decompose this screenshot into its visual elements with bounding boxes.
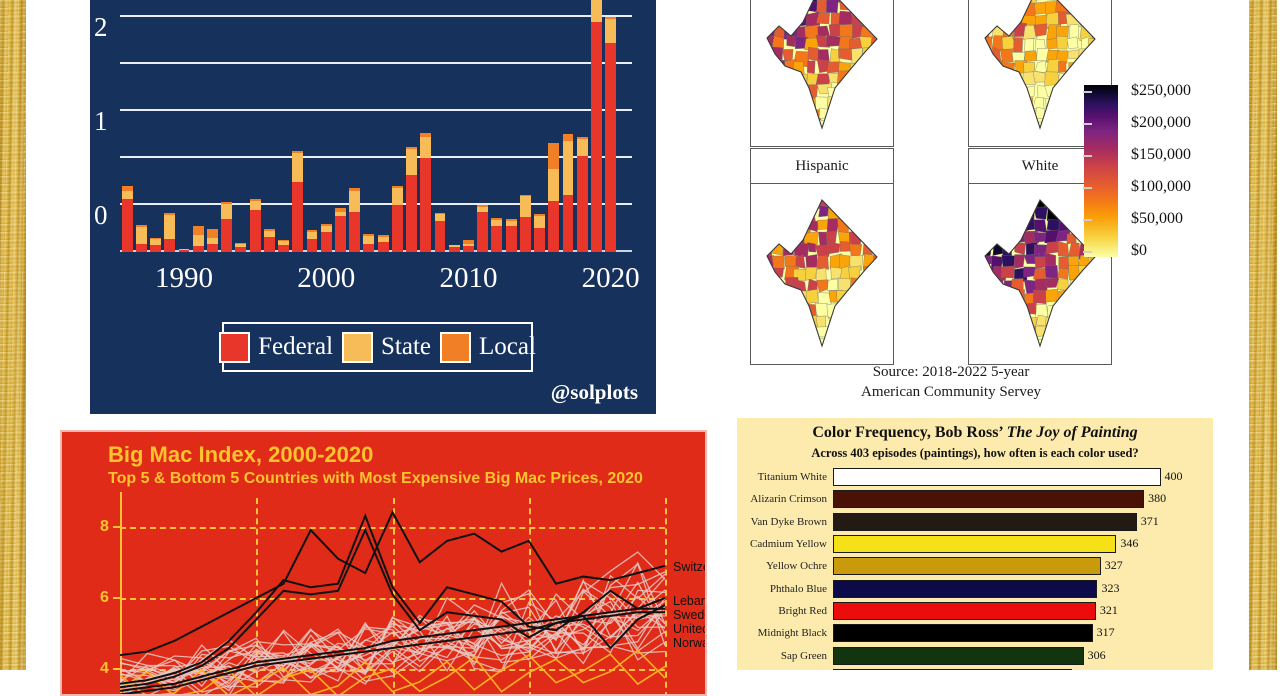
bar-segment-federal xyxy=(463,246,474,252)
bar-chart-bar xyxy=(122,186,133,252)
bob-ross-row: Phthalo Blue323 xyxy=(737,577,1213,599)
colorbar-gradient xyxy=(1084,85,1118,257)
bob-ross-color-label: Sap Green xyxy=(737,650,833,662)
bar-segment-federal xyxy=(278,245,289,252)
bar-segment-federal xyxy=(250,210,261,252)
bob-ross-value-label: 400 xyxy=(1165,469,1183,484)
bar-segment-federal xyxy=(292,182,303,252)
bar-segment-federal xyxy=(605,43,616,252)
bar-chart-gridline xyxy=(120,62,632,64)
bar-chart-bar xyxy=(179,249,190,252)
bob-ross-bar xyxy=(833,557,1101,575)
poster-page: 3210 1990200020102020 FederalStateLocal … xyxy=(0,0,1280,670)
bar-chart-legend: FederalStateLocal xyxy=(222,322,533,372)
dc-choropleth-map xyxy=(761,194,883,354)
bar-segment-federal xyxy=(378,242,389,252)
bar-segment-federal xyxy=(406,175,417,252)
bar-chart-bar xyxy=(264,229,275,252)
bar-segment-federal xyxy=(363,244,374,252)
bar-chart-bar xyxy=(506,219,517,252)
bob-ross-color-label: Bright Red xyxy=(737,605,833,617)
bar-chart-bar xyxy=(363,234,374,252)
bar-chart-bar xyxy=(563,134,574,252)
bar-segment-state xyxy=(363,236,374,244)
big-mac-index-panel: Big Mac Index, 2000-2020 Top 5 & Bottom … xyxy=(60,430,707,696)
bob-ross-bar xyxy=(833,647,1084,665)
bar-segment-federal xyxy=(321,232,332,252)
bob-ross-bar xyxy=(833,490,1144,508)
bob-ross-color-label: Midnight Black xyxy=(737,627,833,639)
bar-segment-federal xyxy=(477,212,488,252)
bob-ross-bar xyxy=(833,580,1097,598)
bar-segment-federal xyxy=(534,228,545,252)
bob-ross-bar-track: 371 xyxy=(833,513,1213,531)
bob-ross-bar-track: 327 xyxy=(833,557,1213,575)
bar-chart-bar xyxy=(349,188,360,252)
bar-chart-bar xyxy=(577,137,588,252)
bob-ross-value-label: 327 xyxy=(1105,558,1123,573)
bar-segment-state xyxy=(221,204,232,219)
bar-chart-bar xyxy=(435,212,446,252)
bar-chart-bar xyxy=(463,240,474,252)
bob-ross-bar-track: 317 xyxy=(833,624,1213,642)
colorbar-label: $50,000 xyxy=(1131,210,1183,228)
bob-ross-bar xyxy=(833,602,1096,620)
bar-segment-federal xyxy=(548,201,559,252)
bar-chart-y-tick: 2 xyxy=(94,14,108,41)
bob-ross-bar xyxy=(833,468,1161,486)
bar-segment-state xyxy=(136,227,147,245)
bar-segment-state xyxy=(605,19,616,43)
bar-segment-federal xyxy=(335,216,346,252)
bar-segment-state xyxy=(520,196,531,217)
bob-ross-value-label: 317 xyxy=(1097,625,1115,640)
bob-ross-value-label: 380 xyxy=(1148,491,1166,506)
big-mac-country-label-sweden: Sweden xyxy=(673,608,707,622)
bar-segment-federal xyxy=(179,250,190,252)
bob-ross-value-label: 323 xyxy=(1101,581,1119,596)
bar-segment-state xyxy=(420,137,431,158)
bar-chart-bar xyxy=(207,228,218,252)
bar-segment-state xyxy=(349,191,360,213)
bar-chart-bar xyxy=(221,202,232,252)
colorbar-label: $250,000 xyxy=(1131,82,1191,100)
bar-segment-federal xyxy=(164,239,175,252)
map-cell-hispanic: Hispanic xyxy=(750,148,894,365)
bar-segment-federal xyxy=(563,195,574,252)
bar-chart-bar xyxy=(449,244,460,252)
bar-segment-federal xyxy=(449,247,460,252)
bar-segment-state xyxy=(563,141,574,195)
legend-swatch xyxy=(219,332,250,363)
bob-ross-title-italic: The Joy of Painting xyxy=(1007,424,1138,441)
bar-chart-bar xyxy=(491,218,502,252)
bar-segment-federal xyxy=(491,226,502,252)
bar-segment-federal xyxy=(392,205,403,252)
legend-item-state[interactable]: State xyxy=(342,332,431,363)
bar-segment-state xyxy=(591,0,602,22)
legend-swatch xyxy=(440,332,471,363)
bar-chart-bar xyxy=(235,243,246,252)
bar-segment-federal xyxy=(136,244,147,252)
big-mac-y-tick: 8 xyxy=(100,518,109,536)
bar-segment-state xyxy=(193,235,204,246)
colorbar-tick xyxy=(1083,91,1092,93)
bar-segment-state xyxy=(548,169,559,201)
federal-spending-bar-chart-panel: 3210 1990200020102020 FederalStateLocal … xyxy=(90,0,656,414)
bar-chart-x-tick: 1990 xyxy=(155,262,213,295)
bar-segment-state xyxy=(307,232,318,239)
bob-ross-color-frequency-panel: Color Frequency, Bob Ross’ The Joy of Pa… xyxy=(737,418,1213,670)
bar-segment-local xyxy=(207,229,218,238)
bar-segment-federal xyxy=(349,212,360,252)
bar-chart-bar xyxy=(591,0,602,252)
bar-segment-state xyxy=(321,226,332,233)
bar-chart-bar xyxy=(136,225,147,252)
bar-chart-x-tick: 2000 xyxy=(297,262,355,295)
big-mac-gridline-v xyxy=(665,498,667,696)
bar-segment-state xyxy=(534,216,545,227)
colorbar-tick xyxy=(1083,251,1092,253)
bob-ross-color-label: Cadmium Yellow xyxy=(737,538,833,550)
map-cell-untitled-0 xyxy=(750,0,894,147)
bob-ross-bar xyxy=(833,624,1093,642)
colorbar-tick xyxy=(1083,155,1092,157)
big-mac-y-tick: 6 xyxy=(100,589,109,607)
map-source-note: Source: 2018-2022 5-yearAmerican Communi… xyxy=(736,362,1166,403)
bob-ross-color-label: Phthalo Blue xyxy=(737,583,833,595)
legend-label: Federal xyxy=(258,333,333,361)
bar-segment-state xyxy=(207,238,218,245)
dc-choropleth-map xyxy=(761,0,883,136)
bar-chart-bar xyxy=(307,230,318,252)
bar-chart-bar xyxy=(420,132,431,252)
big-mac-subtitle: Top 5 & Bottom 5 Countries with Most Exp… xyxy=(108,470,643,488)
bar-segment-local xyxy=(193,226,204,235)
map-cell-title: Hispanic xyxy=(751,149,893,184)
bar-chart-bar xyxy=(406,147,417,252)
map-source-line: Source: 2018-2022 5-year xyxy=(736,362,1166,382)
bar-segment-federal xyxy=(435,221,446,252)
big-mac-country-label-lebanon: Lebanon xyxy=(673,594,707,608)
bob-ross-row: Midnight Black317 xyxy=(737,622,1213,644)
map-cell-body xyxy=(751,0,893,146)
bob-ross-value-label: 371 xyxy=(1141,514,1159,529)
colorbar-tick-labels: $250,000$200,000$150,000$100,000$50,000$… xyxy=(1131,85,1241,257)
legend-item-local[interactable]: Local xyxy=(440,332,536,363)
bob-ross-row: Cadmium Yellow346 xyxy=(737,533,1213,555)
map-colorbar: $250,000$200,000$150,000$100,000$50,000$… xyxy=(1084,85,1241,257)
bar-chart-bar xyxy=(477,205,488,252)
bar-chart-bar xyxy=(150,238,161,252)
bar-chart-bar xyxy=(321,224,332,252)
bar-segment-federal xyxy=(307,239,318,252)
bob-ross-bar-track: 346 xyxy=(833,535,1213,553)
map-source-line: American Community Servey xyxy=(736,382,1166,402)
bar-segment-federal xyxy=(221,219,232,252)
bar-segment-state xyxy=(150,239,161,246)
bob-ross-row: Titanium White400 xyxy=(737,466,1213,488)
bob-ross-color-label: Alizarin Crimson xyxy=(737,493,833,505)
bob-ross-row: Van Dyke Brown371 xyxy=(737,511,1213,533)
bar-segment-state xyxy=(577,139,588,156)
legend-swatch xyxy=(342,332,373,363)
bar-chart-bar xyxy=(278,240,289,252)
bob-ross-color-label: Titanium White xyxy=(737,471,833,483)
bar-chart-gridline xyxy=(120,15,632,17)
bar-segment-federal xyxy=(193,246,204,252)
bob-ross-value-label: 346 xyxy=(1120,536,1138,551)
bar-segment-federal xyxy=(122,199,133,252)
bar-segment-federal xyxy=(207,244,218,252)
big-mac-y-tick: 4 xyxy=(100,660,109,678)
legend-item-federal[interactable]: Federal xyxy=(219,332,333,363)
dc-choropleth-map xyxy=(979,0,1101,136)
bar-segment-federal xyxy=(264,237,275,252)
bob-ross-bar-track: 321 xyxy=(833,602,1213,620)
bob-ross-row: Alizarin Crimson380 xyxy=(737,488,1213,510)
bar-chart-y-tick: 1 xyxy=(94,108,108,135)
big-mac-country-label-united-states: United States xyxy=(673,622,707,636)
bar-chart-bar xyxy=(534,214,545,252)
bar-segment-federal xyxy=(420,158,431,252)
colorbar-label: $200,000 xyxy=(1131,114,1191,132)
bar-chart-x-tick: 2010 xyxy=(439,262,497,295)
bar-chart-bar xyxy=(335,208,346,252)
bar-segment-state xyxy=(292,153,303,182)
bob-ross-bar-track: 306 xyxy=(833,647,1213,665)
bob-ross-color-label: Van Dyke Brown xyxy=(737,516,833,528)
colorbar-tick xyxy=(1083,123,1092,125)
dc-income-maps-panel: HispanicWhite $250,000$200,000$150,000$1… xyxy=(736,0,1236,416)
bar-segment-federal xyxy=(150,245,161,252)
bar-chart-x-tick: 2020 xyxy=(582,262,640,295)
big-mac-title: Big Mac Index, 2000-2020 xyxy=(108,442,373,468)
map-cell-body xyxy=(751,184,893,364)
bob-ross-bar xyxy=(833,535,1116,553)
bar-chart-gridline xyxy=(120,109,632,111)
bob-ross-bar xyxy=(833,513,1137,531)
bar-chart-bar xyxy=(164,213,175,252)
bar-chart-bar xyxy=(193,226,204,252)
bob-ross-title-plain: Color Frequency, Bob Ross’ xyxy=(812,424,1006,441)
colorbar-tick xyxy=(1083,187,1092,189)
bar-segment-state xyxy=(164,215,175,239)
legend-label: Local xyxy=(479,333,536,361)
bar-chart-bar xyxy=(292,151,303,252)
bar-segment-federal xyxy=(520,217,531,252)
bar-chart-bar xyxy=(378,235,389,252)
bar-chart-bar xyxy=(605,17,616,252)
bob-ross-row: Sap Green306 xyxy=(737,644,1213,666)
big-mac-country-label-norway: Norway xyxy=(673,636,707,650)
bob-ross-title: Color Frequency, Bob Ross’ The Joy of Pa… xyxy=(737,424,1213,442)
colorbar-label: $100,000 xyxy=(1131,178,1191,196)
bar-segment-local xyxy=(548,143,559,169)
dc-choropleth-map xyxy=(979,194,1101,354)
legend-label: State xyxy=(381,333,431,361)
bar-segment-federal xyxy=(591,22,602,252)
bob-ross-row: Yellow Ochre327 xyxy=(737,555,1213,577)
colorbar-label: $150,000 xyxy=(1131,146,1191,164)
bob-ross-row: Bright Red321 xyxy=(737,600,1213,622)
bar-chart-bar xyxy=(250,199,261,252)
bob-ross-bar-track: 323 xyxy=(833,580,1213,598)
bar-segment-federal xyxy=(577,156,588,252)
big-mac-lines xyxy=(120,498,665,696)
big-mac-country-label-switzerland: Switzerland xyxy=(673,560,707,574)
bar-segment-state xyxy=(392,188,403,205)
bob-ross-bar-track: 400 xyxy=(833,468,1213,486)
gold-border-right xyxy=(1249,0,1277,670)
bar-segment-federal xyxy=(235,247,246,252)
bar-segment-state xyxy=(435,214,446,221)
bar-segment-federal xyxy=(506,226,517,252)
bob-ross-value-label: 321 xyxy=(1100,603,1118,618)
bob-ross-color-label: Yellow Ochre xyxy=(737,560,833,572)
big-mac-plot-area: 864SwitzerlandLebanonSwedenUnited States… xyxy=(120,498,665,696)
gold-border-left xyxy=(0,0,26,670)
colorbar-tick xyxy=(1083,219,1092,221)
bar-chart-plot-area: 3210 xyxy=(120,0,632,252)
author-handle: @solplots xyxy=(551,380,638,405)
bar-segment-state xyxy=(250,201,261,209)
bar-chart-x-axis: 1990200020102020 xyxy=(120,262,632,298)
bar-chart-bar xyxy=(392,186,403,252)
bob-ross-bar-rows: Titanium White400Alizarin Crimson380Van … xyxy=(737,466,1213,670)
bob-ross-value-label: 306 xyxy=(1088,648,1106,663)
bar-segment-local xyxy=(563,134,574,141)
bar-segment-state xyxy=(122,191,133,199)
bob-ross-subtitle: Across 403 episodes (paintings), how oft… xyxy=(737,446,1213,461)
bar-chart-bar xyxy=(520,195,531,252)
bar-chart-y-tick: 0 xyxy=(94,202,108,229)
bar-chart-bar xyxy=(548,143,559,252)
bob-ross-bar-track: 380 xyxy=(833,490,1213,508)
bar-segment-state xyxy=(406,149,417,174)
colorbar-label: $0 xyxy=(1131,242,1147,260)
